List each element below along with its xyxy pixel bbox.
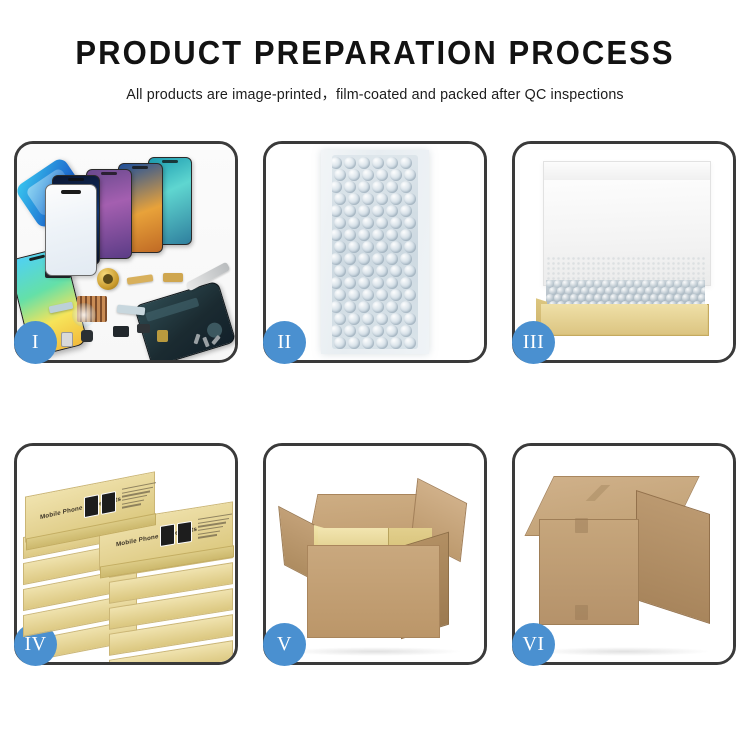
bubble-icon: [376, 217, 388, 229]
bubble-icon: [376, 289, 388, 301]
phone-thumbnail-icon: [84, 494, 99, 518]
bubble-icon: [358, 277, 370, 289]
bubble-icon: [358, 205, 370, 217]
notch-icon: [68, 178, 84, 181]
bubble-icon: [400, 181, 412, 193]
bubble-icon: [400, 229, 412, 241]
bubble-icon: [362, 169, 374, 181]
bubble-icon: [386, 325, 398, 337]
bubble-icon: [362, 241, 374, 253]
component-chip-icon: [61, 332, 73, 347]
bubble-icon: [334, 337, 346, 349]
speaker-coil-icon: [97, 268, 119, 290]
bubble-icon: [372, 253, 384, 265]
tape-seam-icon: [586, 485, 611, 501]
bubble-icon: [390, 337, 402, 349]
bubble-icon: [334, 217, 346, 229]
infographic-page: PRODUCT PREPARATION PROCESS All products…: [0, 0, 750, 750]
process-step-1: I: [14, 141, 238, 363]
bubble-icon: [362, 193, 374, 205]
notch-icon: [101, 172, 117, 175]
kraft-box-front-icon: [541, 304, 707, 334]
step-badge-1: I: [14, 321, 57, 364]
bubble-icon: [344, 301, 356, 313]
screw-icon: [211, 335, 220, 345]
bubble-icon: [372, 301, 384, 313]
component-chip-icon: [81, 330, 93, 342]
screw-icon: [194, 334, 201, 345]
bubble-icon: [334, 193, 346, 205]
bubble-icon: [348, 289, 360, 301]
bubble-icon: [344, 253, 356, 265]
bubble-icon: [348, 337, 360, 349]
bubble-icon: [400, 205, 412, 217]
process-step-3: III: [512, 141, 736, 363]
bubble-icon: [390, 241, 402, 253]
retail-box-spec-lines: [122, 481, 162, 511]
bubble-icon: [390, 193, 402, 205]
flex-cable-icon: [163, 273, 183, 282]
bubble-icon: [358, 229, 370, 241]
bubble-icon: [332, 181, 342, 193]
bubble-icon: [386, 205, 398, 217]
bubble-icon: [332, 325, 342, 337]
bubble-icon: [348, 241, 360, 253]
bubble-icon: [372, 229, 384, 241]
screws-group: [195, 334, 225, 350]
process-step-2: II: [263, 141, 487, 363]
bubble-icon: [404, 169, 416, 181]
bubble-icon: [348, 169, 360, 181]
bubble-icon: [372, 325, 384, 337]
page-subtitle: All products are image-printed，film-coat…: [0, 83, 750, 104]
tempered-glass-icon: [45, 184, 97, 276]
bubble-icon: [344, 181, 356, 193]
bubble-icon: [332, 301, 342, 313]
process-step-5: V: [263, 443, 487, 665]
bubble-icon: [390, 265, 402, 277]
component-chip-icon: [157, 330, 168, 342]
process-grid: I II III Mobile Phone Spa: [14, 141, 736, 665]
bubble-icon: [358, 253, 370, 265]
bubble-icon: [404, 337, 416, 349]
bubble-icon: [332, 205, 342, 217]
bubble-icon: [358, 181, 370, 193]
bubble-wrap-icon: [332, 155, 418, 349]
notch-icon: [132, 166, 148, 169]
bubble-icon: [332, 253, 342, 265]
bubble-icon: [386, 253, 398, 265]
step-badge-6: VI: [512, 623, 555, 666]
flap-tab-icon: [575, 518, 588, 533]
bubble-icon: [334, 169, 346, 181]
bubble-icon: [362, 217, 374, 229]
process-step-4: Mobile Phone Spare PartsMobile Phone Spa…: [14, 443, 238, 665]
bubble-icon: [404, 265, 416, 277]
bubble-icon: [386, 157, 398, 169]
bubble-icon: [400, 253, 412, 265]
bubble-icon: [362, 289, 374, 301]
bubble-icon: [376, 241, 388, 253]
phone-thumbnail-icon: [177, 521, 192, 544]
bubble-icon: [390, 169, 402, 181]
flex-cable-icon: [117, 305, 146, 316]
bubble-icon: [348, 193, 360, 205]
bubble-icon: [344, 205, 356, 217]
bubble-icon: [390, 289, 402, 301]
bubble-icon: [334, 313, 346, 325]
screw-icon: [202, 337, 209, 348]
bubble-icon: [358, 301, 370, 313]
bubble-icon: [358, 157, 370, 169]
bubble-icon: [332, 229, 342, 241]
page-title: PRODUCT PREPARATION PROCESS: [23, 34, 728, 72]
bubble-icon: [348, 313, 360, 325]
bubble-icon: [376, 193, 388, 205]
bubble-icon: [404, 313, 416, 325]
retail-box-stack-icon: Mobile Phone Spare PartsMobile Phone Spa…: [21, 460, 235, 656]
carton-front-icon: [539, 519, 639, 625]
bubble-icon: [344, 325, 356, 337]
bubble-icon: [386, 301, 398, 313]
bubble-icon: [344, 157, 356, 169]
component-chip-icon: [113, 326, 129, 337]
glass-crack-icon: [72, 303, 96, 327]
bubble-icon: [404, 241, 416, 253]
bubble-icon: [376, 169, 388, 181]
bubble-icon: [400, 325, 412, 337]
bubble-icon: [334, 289, 346, 301]
bubble-icon: [386, 181, 398, 193]
bubble-icon: [386, 229, 398, 241]
bubble-icon: [404, 193, 416, 205]
bubble-icon: [334, 265, 346, 277]
bubble-icon: [344, 277, 356, 289]
bubble-icon: [332, 277, 342, 289]
bubble-icon: [400, 301, 412, 313]
inner-bubble-wrap-icon: [546, 280, 705, 306]
notch-icon: [29, 254, 45, 261]
step-4-illustration: Mobile Phone Spare PartsMobile Phone Spa…: [17, 446, 235, 662]
bubble-icon: [376, 265, 388, 277]
bubble-icon: [390, 217, 402, 229]
flap-tab-icon: [575, 605, 588, 620]
bubble-icon: [362, 313, 374, 325]
bubble-icon: [404, 217, 416, 229]
bubble-icon: [332, 157, 342, 169]
process-step-6: VI: [512, 443, 736, 665]
bubble-icon: [348, 217, 360, 229]
bubble-icon: [348, 265, 360, 277]
bubble-icon: [362, 337, 374, 349]
bubble-icon: [372, 205, 384, 217]
header: PRODUCT PREPARATION PROCESS All products…: [0, 0, 750, 104]
bubble-icon: [376, 337, 388, 349]
bubble-icon: [390, 313, 402, 325]
bubble-icon: [404, 289, 416, 301]
component-chip-icon: [137, 324, 150, 333]
phone-thumbnail-icon: [101, 491, 116, 515]
retail-box-spec-lines: [198, 513, 235, 541]
step-badge-2: II: [263, 321, 306, 364]
drop-shadow: [288, 647, 462, 656]
bubble-icon: [386, 277, 398, 289]
bubble-icon: [372, 157, 384, 169]
notch-icon: [162, 160, 178, 163]
bubble-icon: [376, 313, 388, 325]
flex-cable-icon: [127, 274, 154, 285]
bubble-icon: [372, 181, 384, 193]
phone-thumbnail-icon: [160, 524, 175, 547]
step-badge-3: III: [512, 321, 555, 364]
carton-side-icon: [636, 490, 710, 624]
step-badge-5: V: [263, 623, 306, 666]
drop-shadow: [537, 647, 711, 656]
bubble-icon: [334, 241, 346, 253]
bubble-icon: [372, 277, 384, 289]
bubble-icon: [362, 265, 374, 277]
bubble-icon: [400, 157, 412, 169]
bubble-icon: [400, 277, 412, 289]
carton-body-icon: [307, 545, 440, 638]
bubble-icon: [358, 325, 370, 337]
bubble-icon: [344, 229, 356, 241]
